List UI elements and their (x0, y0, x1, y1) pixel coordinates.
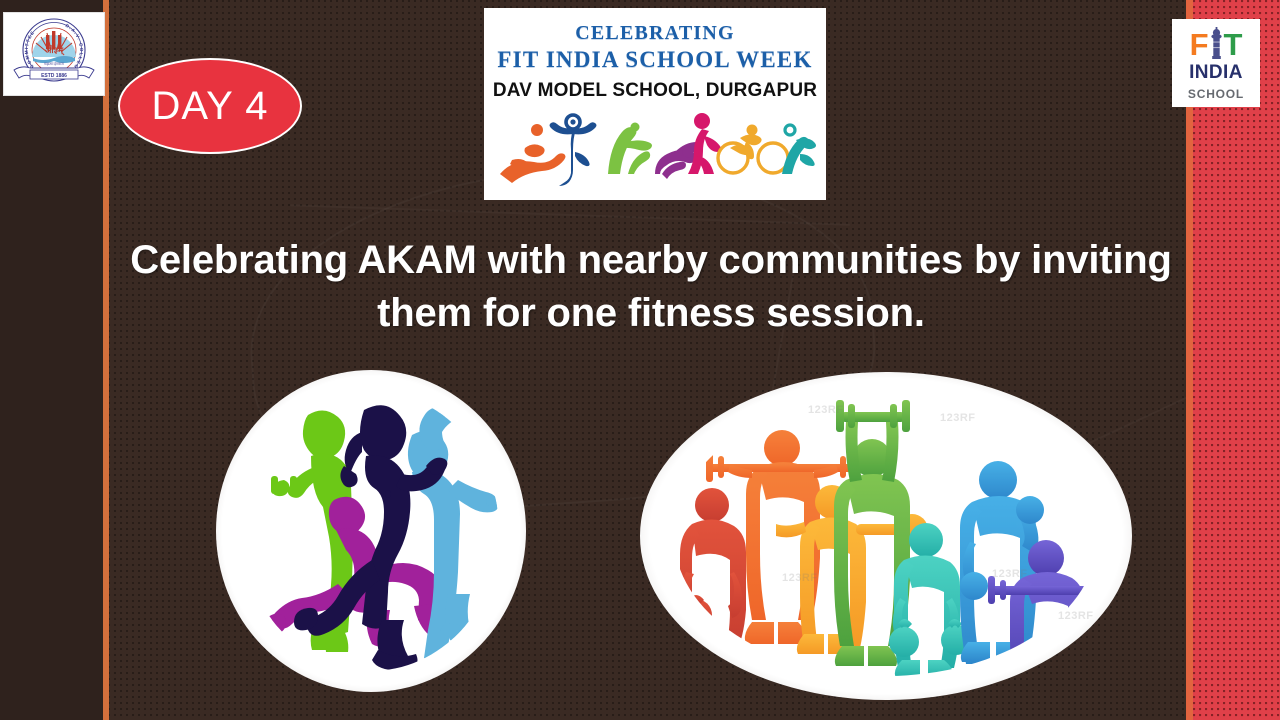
dav-logo-sub-text: महात्मा हंसराज (44, 62, 64, 66)
dav-logo: ओ३म् महात्मा हंसराज D.A.V. COLLEGE MANAG… (3, 12, 105, 96)
header-logo-school-name: DAV MODEL SCHOOL, DURGAPUR (493, 80, 817, 102)
fit-india-school-week-header-logo: CELEBRATING FIT INDIA SCHOOL WEEK DAV MO… (484, 8, 826, 200)
ashoka-pillar-icon (1210, 27, 1223, 60)
fit-wordmark: F T (1190, 26, 1243, 60)
fit-india-label: INDIA (1189, 62, 1243, 84)
women-fitness-silhouettes-image (216, 370, 526, 692)
left-color-band (0, 0, 103, 720)
header-logo-line-celebrating: CELEBRATING (575, 22, 735, 45)
slide-headline: Celebrating AKAM with nearby communities… (86, 234, 1216, 340)
day-badge: DAY 4 (118, 58, 302, 154)
fit-india-school-logo: F T INDIA SCHOOL (1172, 19, 1260, 107)
photo-artwork (216, 370, 526, 692)
header-logo-line-fit-india-school-week: FIT INDIA SCHOOL WEEK (497, 47, 812, 73)
rainbow-weightlifters-image: 123RF 123RF 123RF 123RF 123RF (640, 372, 1132, 700)
presentation-slide: ओ३म् महात्मा हंसराज D.A.V. COLLEGE MANAG… (0, 0, 1280, 720)
fit-school-label: SCHOOL (1188, 87, 1244, 101)
athlete-figures-icon (490, 108, 820, 186)
right-accent-stripe (1186, 0, 1193, 720)
dav-logo-banner-text: ESTD 1886 (41, 73, 67, 79)
fit-letter-t: T (1224, 29, 1243, 60)
right-dotted-band (1193, 0, 1280, 720)
fit-letter-f: F (1190, 29, 1209, 60)
day-badge-label: DAY 4 (152, 86, 269, 126)
left-accent-stripe (103, 0, 109, 720)
background-watermark-line (290, 204, 850, 226)
photo-artwork (640, 372, 1132, 700)
dav-logo-center-text: ओ३म् (45, 45, 65, 56)
